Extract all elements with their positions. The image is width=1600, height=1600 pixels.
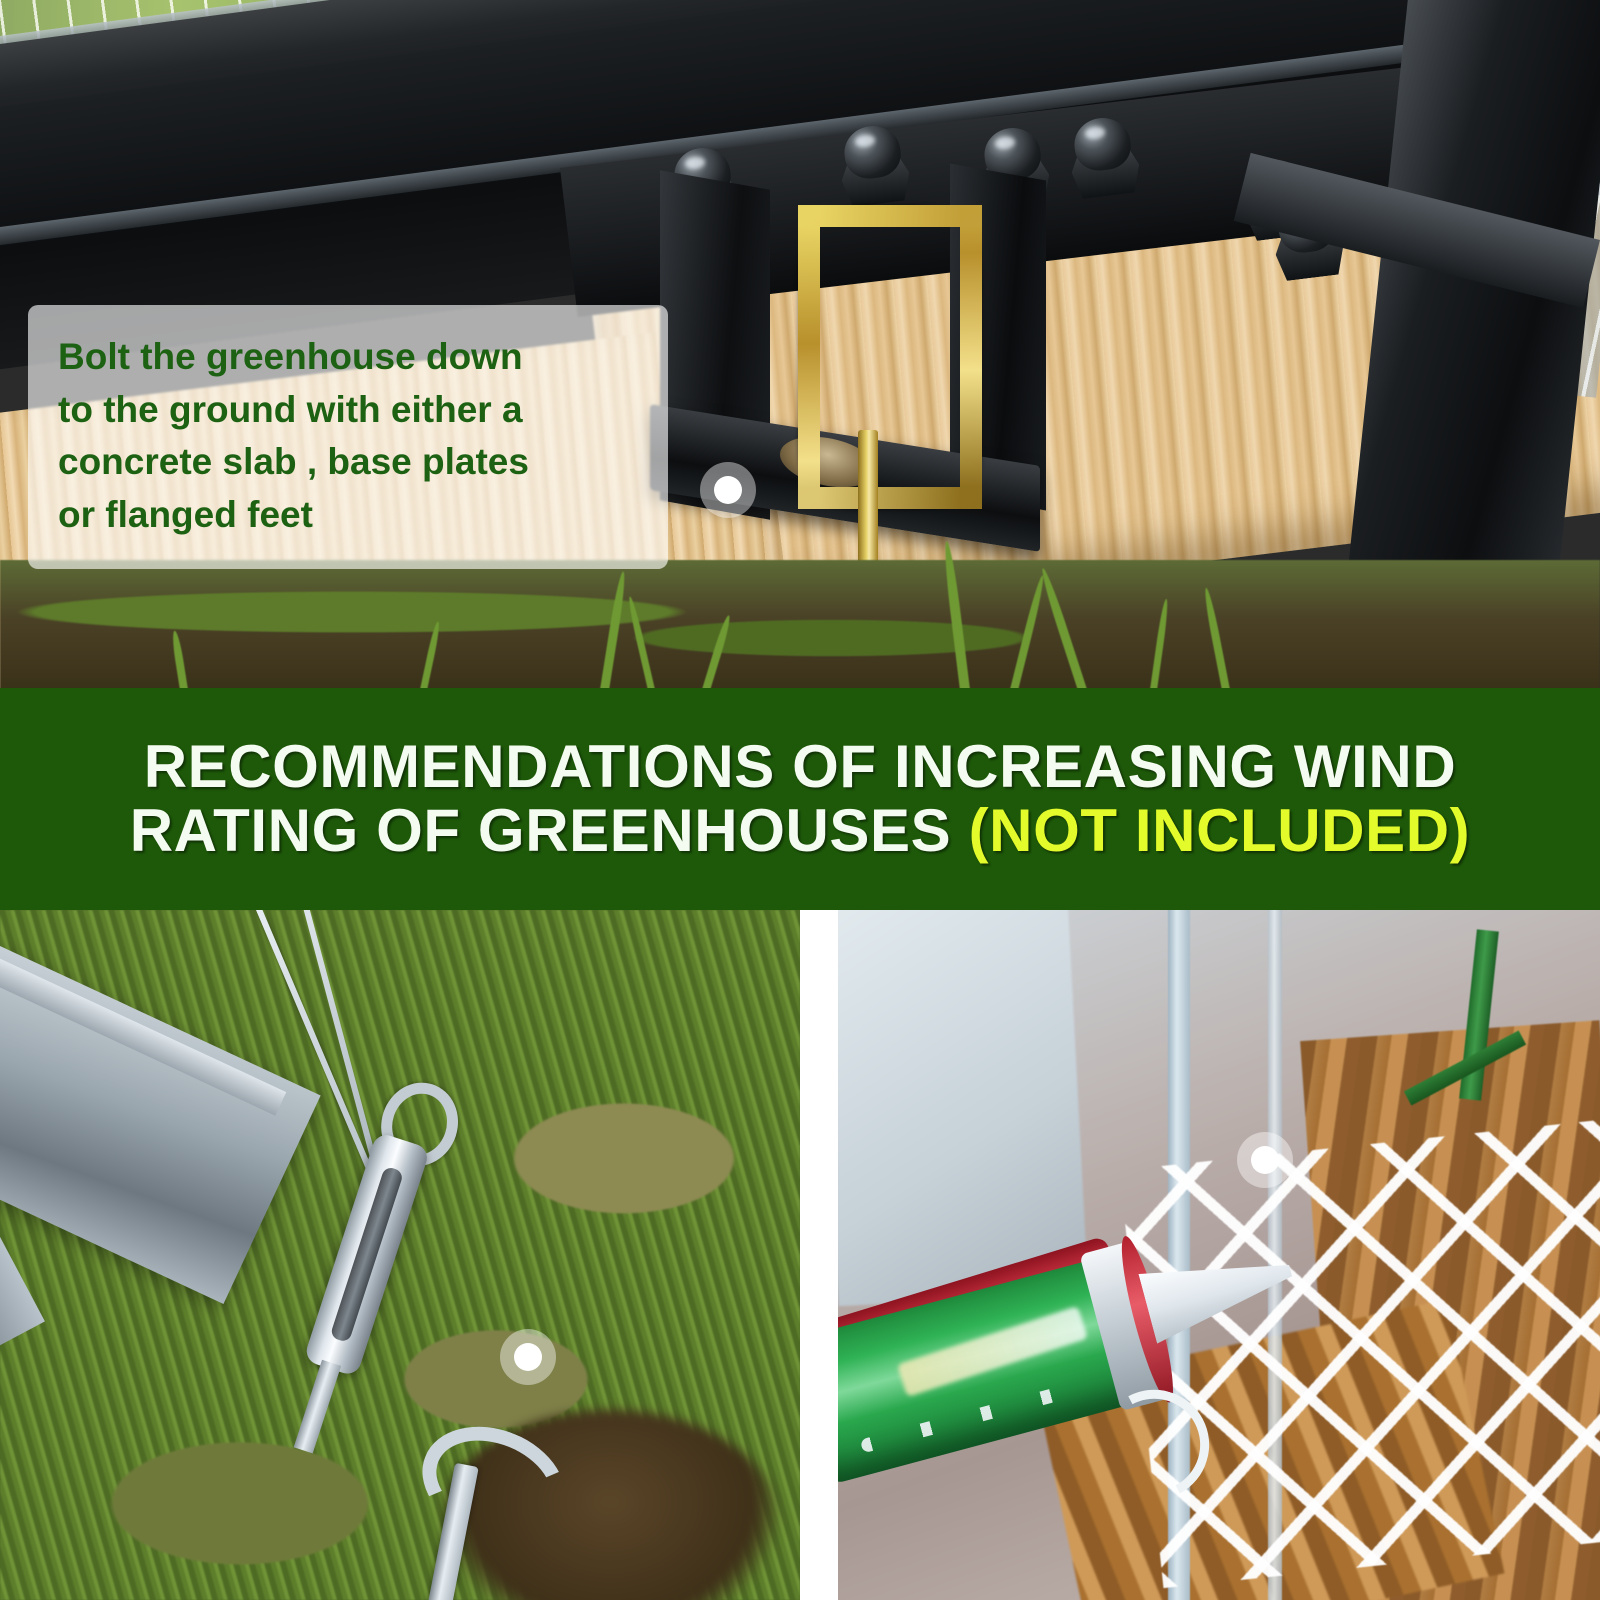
infographic-page: Bolt the greenhouse down to the ground w… — [0, 0, 1600, 1600]
hotspot-core — [714, 476, 742, 504]
callout-top-line4: or flanged feet — [58, 489, 638, 542]
hotspot-marker-icon[interactable] — [500, 1329, 556, 1385]
ground-soil-grass — [0, 560, 1600, 690]
callout-top-line2: to the ground with either a — [58, 384, 638, 437]
hotspot-core — [514, 1343, 542, 1371]
paren-close: ) — [1450, 797, 1471, 864]
banner-headline: RECOMMENDATIONS OF INCREASING WIND RATIN… — [0, 688, 1600, 910]
paren-open: ( — [969, 797, 990, 864]
hotspot-core — [1251, 1146, 1279, 1174]
hotspot-marker-icon[interactable] — [1237, 1132, 1293, 1188]
callout-top-line3: concrete slab , base plates — [58, 436, 638, 489]
banner-highlight: NOT INCLUDED — [989, 797, 1450, 864]
photo-tie-down-kit: Using extra tie-down kits — [0, 910, 800, 1600]
banner-line-2-text: RATING OF GREENHOUSES — [130, 797, 969, 864]
banner-line-1: RECOMMENDATIONS OF INCREASING WIND — [144, 735, 1457, 799]
callout-bolt-down: Bolt the greenhouse down to the ground w… — [28, 305, 668, 569]
photo-silicone-sealant: Using silicone sealant to seal the panel… — [838, 910, 1600, 1600]
photo-greenhouse-base-anchor: Bolt the greenhouse down to the ground w… — [0, 0, 1600, 690]
dome-cap-nut — [1064, 114, 1145, 200]
banner-line-2: RATING OF GREENHOUSES (NOT INCLUDED) — [130, 799, 1471, 863]
hotspot-marker-icon[interactable] — [700, 462, 756, 518]
photo-gutter-divider — [800, 910, 838, 1600]
callout-top-line1: Bolt the greenhouse down — [58, 331, 638, 384]
